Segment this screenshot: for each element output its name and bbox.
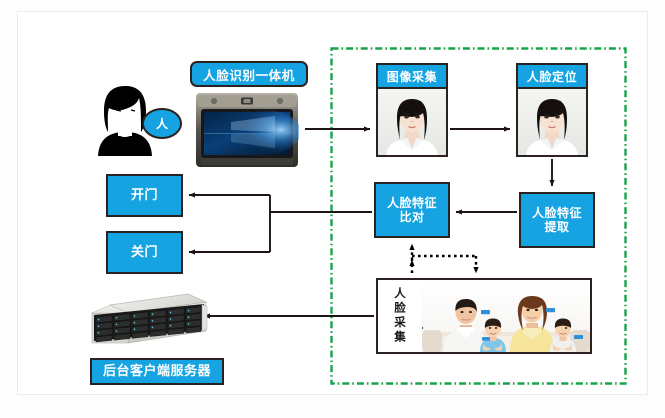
portrait-photo xyxy=(378,89,446,155)
face-recognition-terminal-label: 人脸识别一体机 xyxy=(190,61,308,87)
face-feature-compare-box: 人脸特征 比对 xyxy=(374,182,450,238)
face-collect-box: 人脸采集 xyxy=(376,278,592,354)
face-feature-extract-box: 人脸特征 提取 xyxy=(519,192,595,248)
open-door-box[interactable]: 开门 xyxy=(106,174,183,217)
person-badge: 人 xyxy=(142,108,182,139)
rack-server-icon xyxy=(88,291,210,353)
open-door-label: 开门 xyxy=(131,188,158,203)
face-locate-label: 人脸定位 xyxy=(527,68,577,85)
image-capture-header: 图像采集 xyxy=(378,65,446,89)
extract-line-2: 提取 xyxy=(532,220,582,234)
person-badge-label: 人 xyxy=(156,115,168,132)
compare-line-1: 人脸特征 xyxy=(387,196,437,210)
portrait-photo xyxy=(518,89,586,155)
diagram-canvas: 人 人脸识别一体机 xyxy=(17,11,648,395)
image-capture-label: 图像采集 xyxy=(387,68,437,85)
face-locate-card: 人脸定位 xyxy=(516,63,588,157)
face-collect-label: 人脸采集 xyxy=(378,280,422,352)
face-locate-photo xyxy=(518,89,586,155)
face-locate-header: 人脸定位 xyxy=(518,65,586,89)
server-caption-label: 后台客户端服务器 xyxy=(103,364,211,379)
image-capture-photo xyxy=(378,89,446,155)
diagram-root: 人 人脸识别一体机 xyxy=(0,0,665,418)
face-recognition-terminal-device xyxy=(195,92,299,168)
server-caption-box: 后台客户端服务器 xyxy=(90,358,224,385)
extract-line-1: 人脸特征 xyxy=(532,206,582,220)
close-door-label: 关门 xyxy=(131,245,158,260)
image-capture-card: 图像采集 xyxy=(376,63,448,157)
family-photo xyxy=(422,280,590,352)
close-door-box[interactable]: 关门 xyxy=(106,231,183,274)
terminal-label-text: 人脸识别一体机 xyxy=(203,65,295,84)
compare-line-2: 比对 xyxy=(387,210,437,224)
